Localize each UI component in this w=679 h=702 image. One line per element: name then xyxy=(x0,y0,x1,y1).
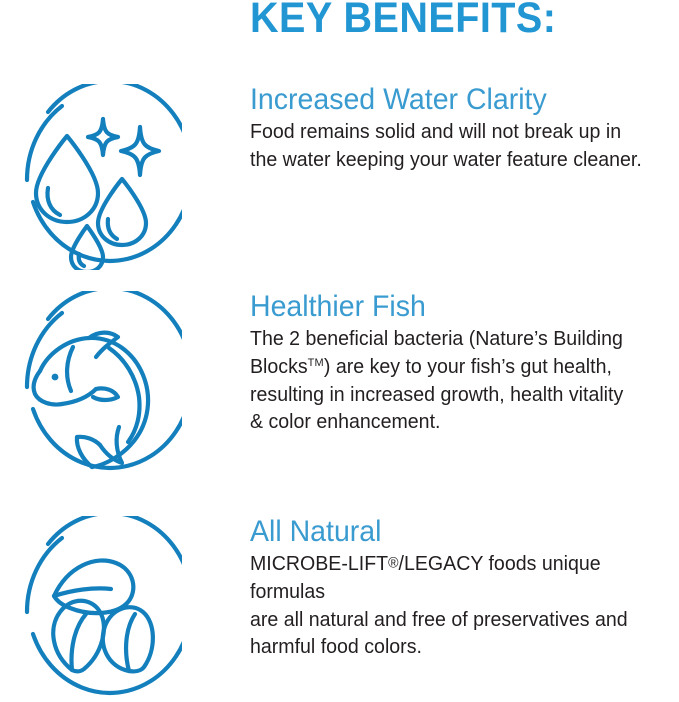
benefit-body: Food remains solid and will not break up… xyxy=(250,118,655,173)
benefit-body: The 2 beneficial bacteria (Nature’s Buil… xyxy=(250,325,655,436)
benefit-text-healthier-fish: Healthier Fish The 2 beneficial bacteria… xyxy=(250,291,674,436)
water-droplets-sparkle-icon xyxy=(10,84,182,270)
benefit-text-all-natural: All Natural MICROBE-LIFT®/LEGACY foods u… xyxy=(250,516,674,661)
benefit-body-line: are all natural and free of preservative… xyxy=(250,608,628,631)
benefit-body-line: the water keeping your water feature cle… xyxy=(250,148,642,171)
trademark-symbol: TM xyxy=(308,357,324,369)
page-title: KEY BENEFITS: xyxy=(250,0,556,43)
benefit-body-line: The 2 beneficial bacteria (Nature’s Buil… xyxy=(250,327,623,350)
benefit-body-line-after-trademark: ) are key to your fish’s gut health, xyxy=(324,355,612,378)
benefit-body-line: resulting in increased growth, health vi… xyxy=(250,383,623,406)
benefit-text-water-clarity: Increased Water Clarity Food remains sol… xyxy=(250,84,674,174)
registered-trademark-symbol: ® xyxy=(388,556,398,572)
benefit-body-line-before-trademark: Blocks xyxy=(250,355,308,378)
leaping-fish-icon xyxy=(10,291,182,477)
three-leaves-recycle-icon xyxy=(10,516,182,702)
benefit-body-line: Food remains solid and will not break up… xyxy=(250,120,621,143)
benefit-body: MICROBE-LIFT®/LEGACY foods unique formul… xyxy=(250,550,655,661)
benefit-heading: Increased Water Clarity xyxy=(250,84,653,116)
benefit-heading: All Natural xyxy=(250,516,653,548)
benefit-heading: Healthier Fish xyxy=(250,291,653,323)
benefit-body-line-before-registered: MICROBE-LIFT xyxy=(250,552,388,575)
benefit-body-line: harmful food colors. xyxy=(250,635,422,658)
benefit-body-line: & color enhancement. xyxy=(250,410,440,433)
